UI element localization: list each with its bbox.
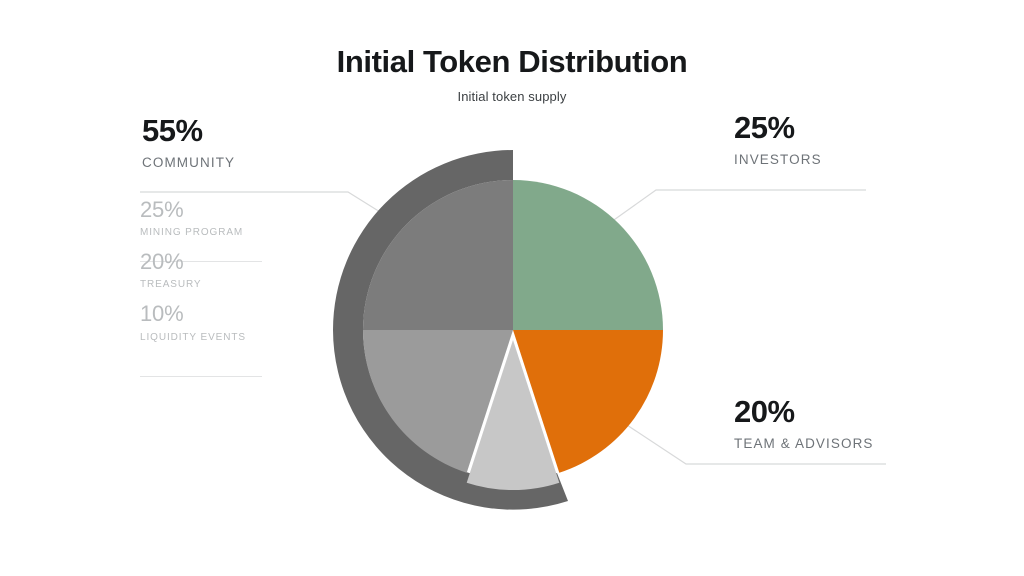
pie-slice-mining-program[interactable] — [363, 180, 513, 330]
callout-team-advisors: 20% TEAM & ADVISORS — [734, 396, 874, 451]
callout-community-label: COMMUNITY — [142, 155, 235, 170]
subitem-mining-label: MINING PROGRAM — [140, 227, 266, 238]
subitem-liquidity-value: 10% — [140, 302, 266, 326]
subitem-mining-value: 25% — [140, 198, 266, 222]
callout-team-label: TEAM & ADVISORS — [734, 436, 874, 451]
subitem-treasury-value: 20% — [140, 250, 266, 274]
callout-community: 55% COMMUNITY — [142, 115, 235, 170]
subitem-treasury-label: TREASURY — [140, 279, 266, 290]
callout-investors-label: INVESTORS — [734, 152, 822, 167]
callout-investors-value: 25% — [734, 112, 822, 145]
community-breakdown-list: 25% MINING PROGRAM 20% TREASURY 10% LIQU… — [140, 198, 266, 355]
subitem-liquidity-label: LIQUIDITY EVENTS — [140, 332, 266, 343]
list-item: 10% LIQUIDITY EVENTS — [140, 302, 266, 354]
list-divider — [140, 376, 262, 377]
callout-team-value: 20% — [734, 396, 874, 429]
list-item: 25% MINING PROGRAM — [140, 198, 266, 250]
list-item: 20% TREASURY — [140, 250, 266, 302]
pie-slice-investors[interactable] — [513, 180, 663, 330]
callout-investors: 25% INVESTORS — [734, 112, 822, 167]
callout-community-value: 55% — [142, 115, 235, 148]
